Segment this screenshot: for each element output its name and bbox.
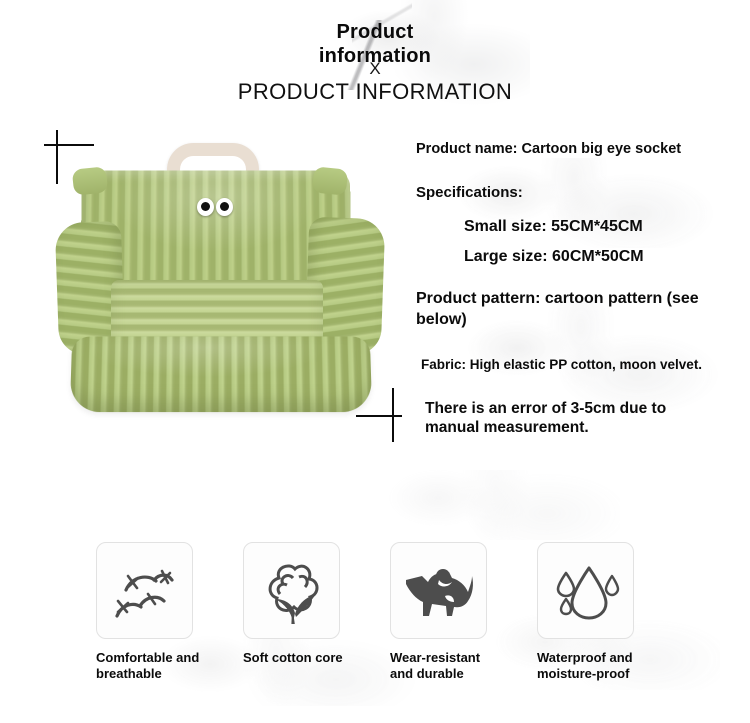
right-pupil xyxy=(220,202,229,211)
detail-fabric: Fabric: High elastic PP cotton, moon vel… xyxy=(416,356,746,373)
feature-label: Comfortable and breathable xyxy=(96,650,208,682)
page-title-line-1: Product xyxy=(0,20,750,44)
detail-specifications-label: Specifications: xyxy=(416,184,746,203)
feature-item-cotton-core: Soft cotton core xyxy=(243,542,353,666)
googly-eyes xyxy=(197,198,235,217)
title-separator: X xyxy=(0,60,750,77)
breathable-airflow-icon xyxy=(108,554,182,628)
feature-icon-card xyxy=(243,542,340,639)
left-pupil xyxy=(201,202,210,211)
product-photo xyxy=(55,140,400,425)
background-watermark xyxy=(360,470,620,540)
feature-item-breathable: Comfortable and breathable xyxy=(96,542,206,682)
feature-icon-card xyxy=(96,542,193,639)
feature-item-durable: Wear-resistant and durable xyxy=(390,542,500,682)
water-droplet-icon xyxy=(549,554,623,628)
product-details-panel: Product name: Cartoon big eye socket Spe… xyxy=(416,140,746,438)
detail-measurement-note: There is an error of 3-5cm due to manual… xyxy=(416,399,715,438)
feature-label: Wear-resistant and durable xyxy=(390,650,502,682)
detail-large-size: Large size: 60CM*50CM xyxy=(416,247,746,267)
feature-list: Comfortable and breathable xyxy=(96,542,656,702)
pet-bed-illustration xyxy=(55,140,400,425)
feature-icon-card xyxy=(390,542,487,639)
feature-icon-card xyxy=(537,542,634,639)
dog-silhouette-icon xyxy=(402,554,476,628)
detail-product-name: Product name: Cartoon big eye socket xyxy=(416,140,746,158)
backrest-corner-left xyxy=(72,166,109,195)
detail-product-pattern: Product pattern: cartoon pattern (see be… xyxy=(416,289,716,329)
feature-label: Soft cotton core xyxy=(243,650,373,666)
backrest-corner-right xyxy=(312,166,349,195)
cotton-boll-icon xyxy=(255,554,329,628)
front-rail xyxy=(70,337,372,413)
detail-small-size: Small size: 55CM*45CM xyxy=(416,217,746,237)
page-subtitle: PRODUCT INFORMATION xyxy=(0,80,750,104)
left-eye xyxy=(197,198,214,216)
feature-item-waterproof: Waterproof and moisture-proof xyxy=(537,542,647,682)
right-eye xyxy=(216,198,233,216)
product-information-page: Product information X PRODUCT INFORMATIO… xyxy=(0,0,750,723)
feature-label: Waterproof and moisture-proof xyxy=(537,650,649,682)
